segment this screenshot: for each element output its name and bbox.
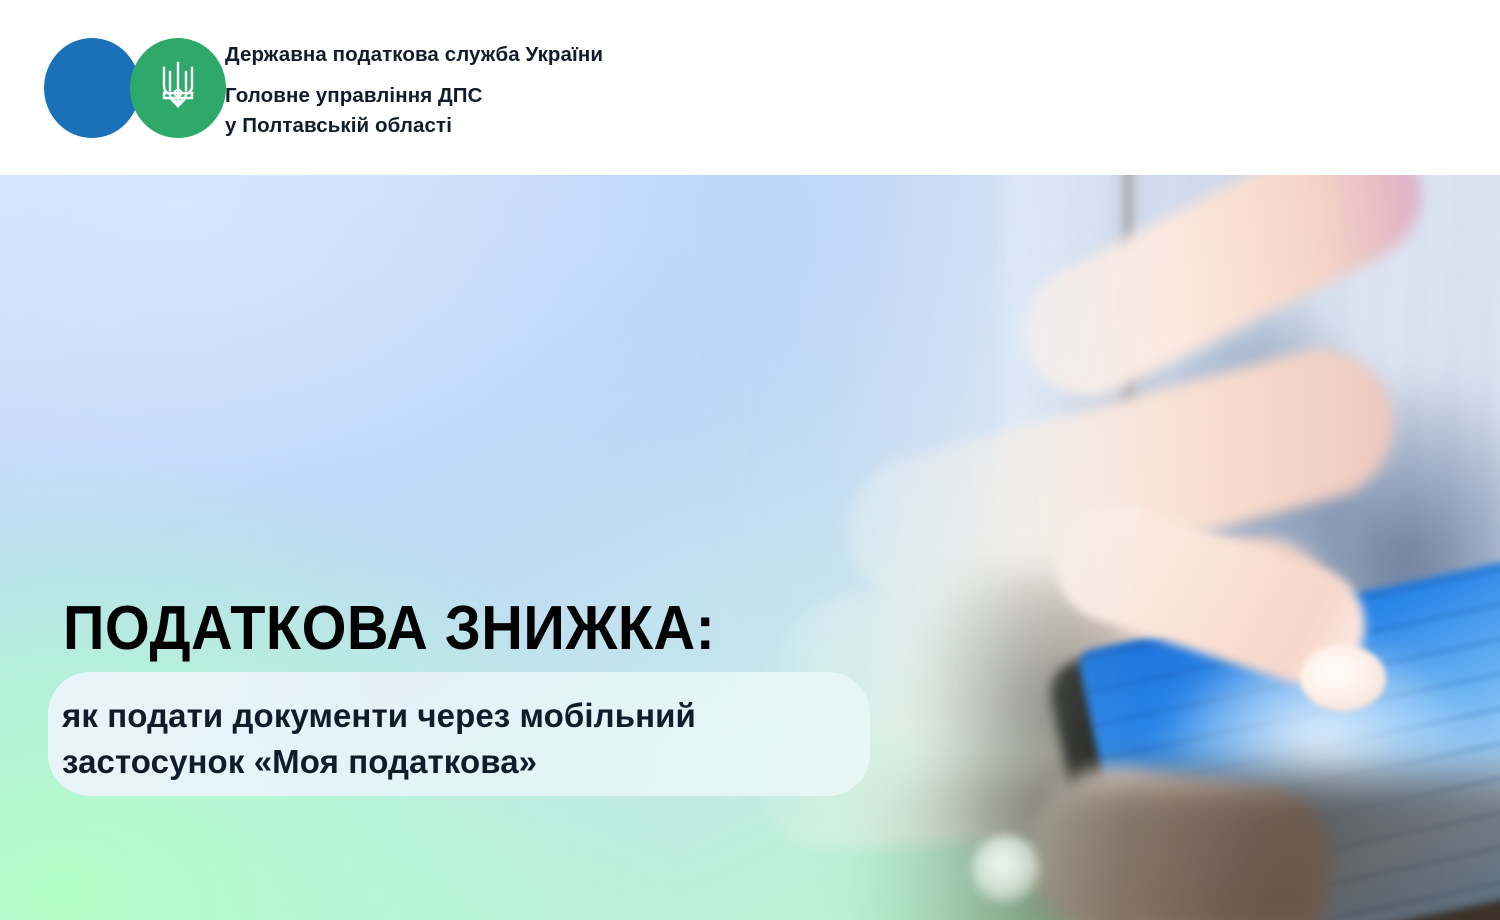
dps-logo [44, 38, 210, 138]
photo-bokeh-highlight [972, 835, 1040, 903]
org-name-line1: Державна податкова служба України [225, 40, 603, 70]
poster: Державна податкова служба України Головн… [0, 0, 1500, 920]
banner-subtitle: як подати документи через мобільний заст… [62, 693, 892, 785]
logo-blue-circle-icon [44, 38, 140, 138]
photo-fingertip [1300, 645, 1386, 711]
hand-phone-photo [700, 175, 1500, 920]
banner-title: ПОДАТКОВА ЗНИЖКА: [63, 598, 715, 660]
banner-subtitle-line1: як подати документи через мобільний [62, 693, 892, 739]
trident-icon [154, 60, 202, 116]
org-name-line2: Головне управління ДПС [225, 81, 603, 111]
header: Державна податкова служба України Головн… [0, 0, 1500, 175]
banner-stage: ПОДАТКОВА ЗНИЖКА: як подати документи че… [0, 175, 1500, 920]
photo-fade-mask [700, 175, 1500, 920]
banner-subtitle-line2: застосунок «Моя податкова» [62, 739, 892, 785]
header-org-text: Державна податкова служба України Головн… [225, 40, 603, 141]
photo-foreground-shadow [850, 775, 1500, 920]
org-name-line3: у Полтавській області [225, 111, 603, 141]
